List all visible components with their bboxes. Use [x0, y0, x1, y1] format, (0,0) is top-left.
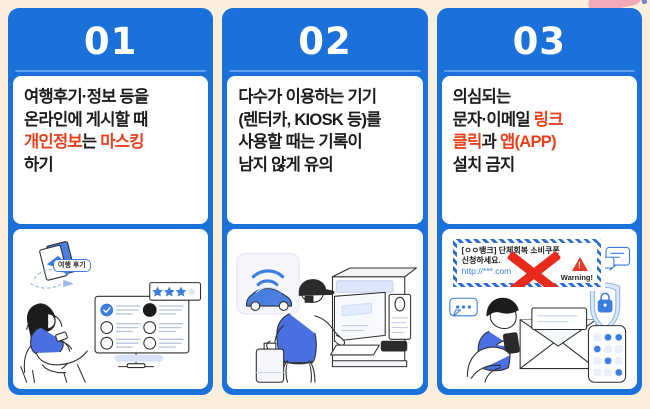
headline-highlight: 링크	[534, 111, 563, 129]
headline-span: 온라인에 게시할 때	[24, 111, 148, 129]
headline-line: 클릭과 앱(APP)	[453, 131, 627, 154]
headline-line: 의심되는	[453, 86, 627, 109]
panel-illustration-01: 여행 후기	[13, 229, 208, 389]
headline-line: 다수가 이용하는 기기	[238, 86, 412, 109]
headline-span: 여행후기·정보 등을	[24, 88, 149, 106]
headline-span: 의심되는	[453, 88, 511, 106]
headline-span: (렌터카, KIOSK 등)를	[238, 111, 380, 129]
sms-warning-label: Warning!	[561, 273, 593, 282]
panel-01: 01 여행후기·정보 등을 온라인에 게시할 때 개인정보는 마스킹 하기	[8, 8, 213, 395]
panel-headline-02: 다수가 이용하는 기기 (렌터카, KIOSK 등)를 사용할 때는 기록이 남…	[238, 86, 412, 176]
panel-headline-03: 의심되는 문자·이메일 링크 클릭과 앱(APP) 설치 금지	[453, 86, 627, 176]
headline-span: 하기	[24, 156, 53, 174]
panel-divider-01	[15, 70, 206, 72]
headline-line: 남지 않게 유의	[238, 154, 412, 177]
panel-divider-02	[229, 70, 420, 72]
panel-illustration-03: [ㅇㅇ뱅크] 단체회복 소비쿠폰 신청하세요. http://***.com W…	[442, 229, 637, 389]
headline-line: 사용할 때는 기록이	[238, 131, 412, 154]
panel-number-01: 01	[13, 12, 208, 70]
panel-text-card-03: 의심되는 문자·이메일 링크 클릭과 앱(APP) 설치 금지	[442, 76, 637, 224]
headline-span: 설치 금지	[453, 156, 515, 174]
headline-highlight: 앱(APP)	[500, 133, 556, 151]
headline-span: 는	[82, 133, 100, 151]
panel-headline-01: 여행후기·정보 등을 온라인에 게시할 때 개인정보는 마스킹 하기	[24, 86, 198, 176]
headline-line: 하기	[24, 154, 198, 177]
headline-line: 온라인에 게시할 때	[24, 109, 198, 132]
panel-illustration-02	[227, 229, 422, 389]
headline-line: 설치 금지	[453, 154, 627, 177]
warning-triangle-icon	[572, 257, 588, 271]
headline-line: 문자·이메일 링크	[453, 109, 627, 132]
travel-review-illustration	[13, 229, 208, 389]
panel-text-card-01: 여행후기·정보 등을 온라인에 게시할 때 개인정보는 마스킹 하기	[13, 76, 208, 224]
panel-02: 02 다수가 이용하는 기기 (렌터카, KIOSK 등)를 사용할 때는 기록…	[222, 8, 427, 395]
headline-span: 다수가 이용하는 기기	[238, 88, 376, 106]
red-x-icon	[503, 245, 565, 291]
panel-divider-03	[444, 70, 635, 72]
headline-line: 여행후기·정보 등을	[24, 86, 198, 109]
sms-content: [ㅇㅇ뱅크] 단체회복 소비쿠폰 신청하세요. http://***.com W…	[457, 243, 597, 283]
headline-highlight: 클릭	[453, 133, 482, 151]
panel-text-card-02: 다수가 이용하는 기기 (렌터카, KIOSK 등)를 사용할 때는 기록이 남…	[227, 76, 422, 224]
headline-highlight: 마스킹	[100, 133, 143, 151]
headline-span: 사용할 때는 기록이	[238, 133, 362, 151]
headline-line: 개인정보는 마스킹	[24, 131, 198, 154]
headline-span: 문자·이메일	[453, 111, 534, 129]
panel-number-02: 02	[227, 12, 422, 70]
panel-number-03: 03	[442, 12, 637, 70]
infographic-board: 01 여행후기·정보 등을 온라인에 게시할 때 개인정보는 마스킹 하기	[0, 0, 650, 409]
kiosk-usage-illustration	[227, 229, 422, 389]
panel-03: 03 의심되는 문자·이메일 링크 클릭과 앱(APP) 설치 금지	[437, 8, 642, 395]
headline-span: 남지 않게 유의	[238, 156, 333, 174]
headline-highlight: 개인정보	[24, 133, 82, 151]
phishing-sms-banner: [ㅇㅇ뱅크] 단체회복 소비쿠폰 신청하세요. http://***.com W…	[449, 235, 605, 291]
travel-review-bubble: 여행 후기	[53, 259, 91, 272]
headline-span: 과	[482, 133, 500, 151]
headline-line: (렌터카, KIOSK 등)를	[238, 109, 412, 132]
